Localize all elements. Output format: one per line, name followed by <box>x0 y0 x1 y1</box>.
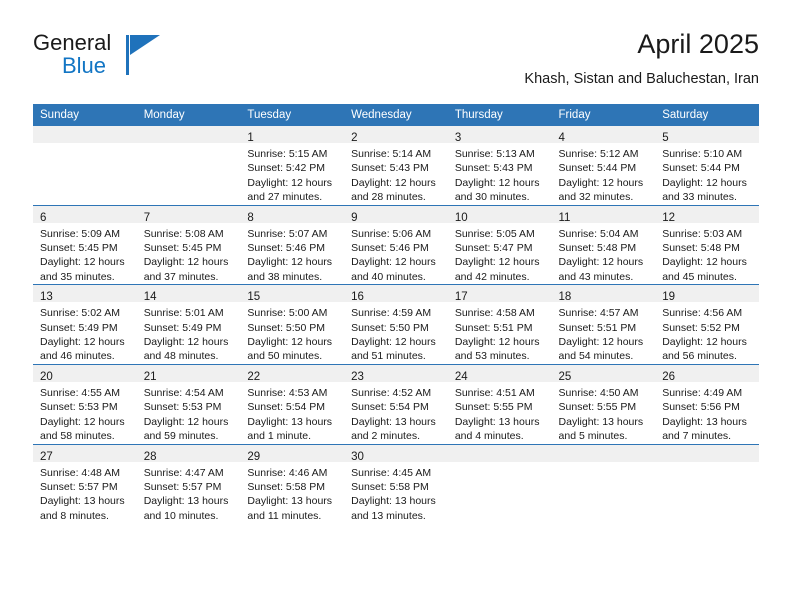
day-number: 5 <box>662 132 668 144</box>
sunrise-sunset-calendar: Sunday Monday Tuesday Wednesday Thursday… <box>33 104 759 523</box>
calendar-day-cell[interactable]: 7Sunrise: 5:08 AMSunset: 5:45 PMDaylight… <box>137 205 241 285</box>
day-number-band: 10 <box>448 206 552 223</box>
day-details: Sunrise: 4:55 AMSunset: 5:53 PMDaylight:… <box>33 382 137 444</box>
day-number-band: 22 <box>240 365 344 382</box>
daylight-text-line2: and 8 minutes. <box>40 509 131 523</box>
weekday-header-sunday: Sunday <box>33 104 137 126</box>
sunset-text: Sunset: 5:54 PM <box>247 400 338 414</box>
daylight-text-line1: Daylight: 13 hours <box>559 415 650 429</box>
daylight-text-line2: and 2 minutes. <box>351 429 442 443</box>
day-details: Sunrise: 4:51 AMSunset: 5:55 PMDaylight:… <box>448 382 552 444</box>
day-number: 7 <box>144 212 150 224</box>
calendar-week-row: 1Sunrise: 5:15 AMSunset: 5:42 PMDaylight… <box>33 126 759 205</box>
calendar-day-cell-empty <box>137 126 241 205</box>
day-number: 20 <box>40 371 53 383</box>
day-number-band: 14 <box>137 285 241 302</box>
day-number: 29 <box>247 451 260 463</box>
daylight-text-line1: Daylight: 12 hours <box>351 335 442 349</box>
calendar-week-row: 20Sunrise: 4:55 AMSunset: 5:53 PMDayligh… <box>33 364 759 444</box>
calendar-day-cell[interactable]: 17Sunrise: 4:58 AMSunset: 5:51 PMDayligh… <box>448 285 552 365</box>
sunset-text: Sunset: 5:54 PM <box>351 400 442 414</box>
day-details: Sunrise: 4:57 AMSunset: 5:51 PMDaylight:… <box>552 302 656 364</box>
sunrise-text: Sunrise: 5:12 AM <box>559 147 650 161</box>
day-number-band: 20 <box>33 365 137 382</box>
day-number-band: 27 <box>33 445 137 462</box>
day-number: 16 <box>351 291 364 303</box>
sunrise-text: Sunrise: 5:05 AM <box>455 227 546 241</box>
sunrise-text: Sunrise: 4:50 AM <box>559 386 650 400</box>
sunrise-text: Sunrise: 5:04 AM <box>559 227 650 241</box>
logo-bar-icon <box>126 35 129 75</box>
sunset-text: Sunset: 5:55 PM <box>559 400 650 414</box>
sunset-text: Sunset: 5:53 PM <box>40 400 131 414</box>
sunset-text: Sunset: 5:48 PM <box>662 241 753 255</box>
sunset-text: Sunset: 5:55 PM <box>455 400 546 414</box>
calendar-day-cell[interactable]: 6Sunrise: 5:09 AMSunset: 5:45 PMDaylight… <box>33 205 137 285</box>
day-number: 23 <box>351 371 364 383</box>
day-details: Sunrise: 5:07 AMSunset: 5:46 PMDaylight:… <box>240 223 344 285</box>
daylight-text-line2: and 32 minutes. <box>559 190 650 204</box>
daylight-text-line1: Daylight: 13 hours <box>455 415 546 429</box>
day-number-band: 28 <box>137 445 241 462</box>
daylight-text-line1: Daylight: 12 hours <box>559 335 650 349</box>
day-number-band <box>655 445 759 462</box>
day-details: Sunrise: 5:01 AMSunset: 5:49 PMDaylight:… <box>137 302 241 364</box>
weekday-header-wednesday: Wednesday <box>344 104 448 126</box>
sunrise-text: Sunrise: 5:00 AM <box>247 306 338 320</box>
day-number-band: 5 <box>655 126 759 143</box>
sunset-text: Sunset: 5:53 PM <box>144 400 235 414</box>
calendar-day-cell[interactable]: 8Sunrise: 5:07 AMSunset: 5:46 PMDaylight… <box>240 205 344 285</box>
daylight-text-line1: Daylight: 12 hours <box>40 415 131 429</box>
day-details: Sunrise: 5:15 AMSunset: 5:42 PMDaylight:… <box>240 143 344 205</box>
calendar-day-cell[interactable]: 5Sunrise: 5:10 AMSunset: 5:44 PMDaylight… <box>655 126 759 205</box>
calendar-week-row: 6Sunrise: 5:09 AMSunset: 5:45 PMDaylight… <box>33 205 759 285</box>
day-number: 11 <box>559 212 571 224</box>
day-details: Sunrise: 5:13 AMSunset: 5:43 PMDaylight:… <box>448 143 552 205</box>
daylight-text-line2: and 46 minutes. <box>40 349 131 363</box>
day-number-band <box>552 445 656 462</box>
daylight-text-line1: Daylight: 12 hours <box>559 176 650 190</box>
day-details: Sunrise: 4:59 AMSunset: 5:50 PMDaylight:… <box>344 302 448 364</box>
day-number: 15 <box>247 291 260 303</box>
day-details: Sunrise: 4:58 AMSunset: 5:51 PMDaylight:… <box>448 302 552 364</box>
day-number: 19 <box>662 291 675 303</box>
day-number: 28 <box>144 451 157 463</box>
triangle-flag-icon <box>130 35 160 55</box>
calendar-day-cell[interactable]: 27Sunrise: 4:48 AMSunset: 5:57 PMDayligh… <box>33 444 137 523</box>
sunset-text: Sunset: 5:50 PM <box>247 321 338 335</box>
sunset-text: Sunset: 5:45 PM <box>40 241 131 255</box>
calendar-day-cell[interactable]: 16Sunrise: 4:59 AMSunset: 5:50 PMDayligh… <box>344 285 448 365</box>
day-number: 13 <box>40 291 53 303</box>
calendar-day-cell[interactable]: 28Sunrise: 4:47 AMSunset: 5:57 PMDayligh… <box>137 444 241 523</box>
daylight-text-line1: Daylight: 12 hours <box>40 335 131 349</box>
day-number-band: 2 <box>344 126 448 143</box>
day-number: 14 <box>144 291 157 303</box>
sunrise-text: Sunrise: 4:52 AM <box>351 386 442 400</box>
calendar-header-row: Sunday Monday Tuesday Wednesday Thursday… <box>33 104 759 126</box>
day-number: 2 <box>351 132 357 144</box>
daylight-text-line1: Daylight: 13 hours <box>40 494 131 508</box>
day-number-band: 12 <box>655 206 759 223</box>
sunrise-text: Sunrise: 4:56 AM <box>662 306 753 320</box>
calendar-day-cell[interactable]: 26Sunrise: 4:49 AMSunset: 5:56 PMDayligh… <box>655 364 759 444</box>
calendar-day-cell[interactable]: 30Sunrise: 4:45 AMSunset: 5:58 PMDayligh… <box>344 444 448 523</box>
sunrise-text: Sunrise: 5:14 AM <box>351 147 442 161</box>
day-details: Sunrise: 5:14 AMSunset: 5:43 PMDaylight:… <box>344 143 448 205</box>
sunset-text: Sunset: 5:43 PM <box>351 161 442 175</box>
sunrise-text: Sunrise: 5:09 AM <box>40 227 131 241</box>
location-subtitle: Khash, Sistan and Baluchestan, Iran <box>524 69 759 89</box>
daylight-text-line1: Daylight: 12 hours <box>662 255 753 269</box>
day-number-band <box>448 445 552 462</box>
sunrise-text: Sunrise: 4:58 AM <box>455 306 546 320</box>
sunset-text: Sunset: 5:57 PM <box>40 480 131 494</box>
calendar-day-cell[interactable]: 24Sunrise: 4:51 AMSunset: 5:55 PMDayligh… <box>448 364 552 444</box>
sunrise-text: Sunrise: 4:49 AM <box>662 386 753 400</box>
day-number: 3 <box>455 132 461 144</box>
sunrise-text: Sunrise: 5:07 AM <box>247 227 338 241</box>
day-number-band: 29 <box>240 445 344 462</box>
calendar-day-cell[interactable]: 4Sunrise: 5:12 AMSunset: 5:44 PMDaylight… <box>552 126 656 205</box>
daylight-text-line1: Daylight: 12 hours <box>662 176 753 190</box>
sunrise-text: Sunrise: 5:02 AM <box>40 306 131 320</box>
sunset-text: Sunset: 5:51 PM <box>559 321 650 335</box>
day-number: 17 <box>455 291 468 303</box>
page-title: April 2025 <box>524 28 759 60</box>
daylight-text-line1: Daylight: 13 hours <box>247 494 338 508</box>
page-header: General Blue April 2025 Khash, Sistan an… <box>33 28 759 98</box>
sunset-text: Sunset: 5:45 PM <box>144 241 235 255</box>
day-details: Sunrise: 5:10 AMSunset: 5:44 PMDaylight:… <box>655 143 759 205</box>
day-details: Sunrise: 4:56 AMSunset: 5:52 PMDaylight:… <box>655 302 759 364</box>
sunset-text: Sunset: 5:49 PM <box>40 321 131 335</box>
day-number-band: 17 <box>448 285 552 302</box>
day-number: 21 <box>144 371 157 383</box>
calendar-day-cell[interactable]: 12Sunrise: 5:03 AMSunset: 5:48 PMDayligh… <box>655 205 759 285</box>
day-number: 8 <box>247 212 253 224</box>
day-details: Sunrise: 4:53 AMSunset: 5:54 PMDaylight:… <box>240 382 344 444</box>
calendar-day-cell[interactable]: 10Sunrise: 5:05 AMSunset: 5:47 PMDayligh… <box>448 205 552 285</box>
daylight-text-line1: Daylight: 13 hours <box>144 494 235 508</box>
sunset-text: Sunset: 5:46 PM <box>247 241 338 255</box>
day-number-band: 21 <box>137 365 241 382</box>
calendar-day-cell[interactable]: 25Sunrise: 4:50 AMSunset: 5:55 PMDayligh… <box>552 364 656 444</box>
sunrise-text: Sunrise: 4:53 AM <box>247 386 338 400</box>
day-number: 18 <box>559 291 572 303</box>
sunset-text: Sunset: 5:46 PM <box>351 241 442 255</box>
daylight-text-line2: and 48 minutes. <box>144 349 235 363</box>
day-details: Sunrise: 4:47 AMSunset: 5:57 PMDaylight:… <box>137 462 241 524</box>
daylight-text-line2: and 37 minutes. <box>144 270 235 284</box>
day-details: Sunrise: 5:00 AMSunset: 5:50 PMDaylight:… <box>240 302 344 364</box>
general-blue-logo[interactable]: General Blue <box>33 28 253 88</box>
day-number: 27 <box>40 451 53 463</box>
sunset-text: Sunset: 5:51 PM <box>455 321 546 335</box>
calendar-day-cell[interactable]: 20Sunrise: 4:55 AMSunset: 5:53 PMDayligh… <box>33 364 137 444</box>
day-number: 1 <box>247 132 253 144</box>
sunset-text: Sunset: 5:58 PM <box>247 480 338 494</box>
sunset-text: Sunset: 5:52 PM <box>662 321 753 335</box>
calendar-day-cell[interactable]: 1Sunrise: 5:15 AMSunset: 5:42 PMDaylight… <box>240 126 344 205</box>
day-details: Sunrise: 5:12 AMSunset: 5:44 PMDaylight:… <box>552 143 656 205</box>
sunset-text: Sunset: 5:48 PM <box>559 241 650 255</box>
sunset-text: Sunset: 5:44 PM <box>559 161 650 175</box>
day-number-band: 1 <box>240 126 344 143</box>
daylight-text-line1: Daylight: 12 hours <box>351 176 442 190</box>
calendar-day-cell[interactable]: 19Sunrise: 4:56 AMSunset: 5:52 PMDayligh… <box>655 285 759 365</box>
calendar-day-cell[interactable]: 2Sunrise: 5:14 AMSunset: 5:43 PMDaylight… <box>344 126 448 205</box>
daylight-text-line2: and 11 minutes. <box>247 509 338 523</box>
daylight-text-line1: Daylight: 12 hours <box>351 255 442 269</box>
daylight-text-line2: and 30 minutes. <box>455 190 546 204</box>
calendar-day-cell[interactable]: 18Sunrise: 4:57 AMSunset: 5:51 PMDayligh… <box>552 285 656 365</box>
daylight-text-line2: and 56 minutes. <box>662 349 753 363</box>
sunset-text: Sunset: 5:56 PM <box>662 400 753 414</box>
daylight-text-line1: Daylight: 12 hours <box>662 335 753 349</box>
sunrise-text: Sunrise: 4:59 AM <box>351 306 442 320</box>
day-details: Sunrise: 5:04 AMSunset: 5:48 PMDaylight:… <box>552 223 656 285</box>
daylight-text-line2: and 33 minutes. <box>662 190 753 204</box>
daylight-text-line2: and 42 minutes. <box>455 270 546 284</box>
sunset-text: Sunset: 5:57 PM <box>144 480 235 494</box>
day-details: Sunrise: 4:46 AMSunset: 5:58 PMDaylight:… <box>240 462 344 524</box>
daylight-text-line2: and 27 minutes. <box>247 190 338 204</box>
day-number: 22 <box>247 371 260 383</box>
day-details: Sunrise: 4:45 AMSunset: 5:58 PMDaylight:… <box>344 462 448 524</box>
day-number-band <box>33 126 137 143</box>
day-number-band: 9 <box>344 206 448 223</box>
calendar-day-cell-empty <box>448 444 552 523</box>
daylight-text-line2: and 54 minutes. <box>559 349 650 363</box>
sunrise-text: Sunrise: 4:48 AM <box>40 466 131 480</box>
calendar-day-cell[interactable]: 21Sunrise: 4:54 AMSunset: 5:53 PMDayligh… <box>137 364 241 444</box>
day-details: Sunrise: 5:06 AMSunset: 5:46 PMDaylight:… <box>344 223 448 285</box>
sunset-text: Sunset: 5:43 PM <box>455 161 546 175</box>
day-details: Sunrise: 5:05 AMSunset: 5:47 PMDaylight:… <box>448 223 552 285</box>
sunrise-text: Sunrise: 4:57 AM <box>559 306 650 320</box>
day-number-band: 4 <box>552 126 656 143</box>
day-number-band: 24 <box>448 365 552 382</box>
daylight-text-line1: Daylight: 12 hours <box>144 335 235 349</box>
daylight-text-line2: and 4 minutes. <box>455 429 546 443</box>
daylight-text-line2: and 38 minutes. <box>247 270 338 284</box>
calendar-page: General Blue April 2025 Khash, Sistan an… <box>0 0 792 612</box>
daylight-text-line1: Daylight: 12 hours <box>40 255 131 269</box>
sunset-text: Sunset: 5:42 PM <box>247 161 338 175</box>
sunrise-text: Sunrise: 4:47 AM <box>144 466 235 480</box>
daylight-text-line1: Daylight: 12 hours <box>247 176 338 190</box>
calendar-day-cell[interactable]: 9Sunrise: 5:06 AMSunset: 5:46 PMDaylight… <box>344 205 448 285</box>
calendar-body: 1Sunrise: 5:15 AMSunset: 5:42 PMDaylight… <box>33 126 759 523</box>
day-number: 25 <box>559 371 572 383</box>
day-number-band <box>137 126 241 143</box>
daylight-text-line2: and 40 minutes. <box>351 270 442 284</box>
daylight-text-line1: Daylight: 12 hours <box>455 176 546 190</box>
day-number: 10 <box>455 212 468 224</box>
weekday-header-saturday: Saturday <box>655 104 759 126</box>
day-number-band: 3 <box>448 126 552 143</box>
day-number: 30 <box>351 451 364 463</box>
daylight-text-line1: Daylight: 13 hours <box>351 494 442 508</box>
daylight-text-line2: and 5 minutes. <box>559 429 650 443</box>
calendar-day-cell-empty <box>552 444 656 523</box>
calendar-day-cell[interactable]: 29Sunrise: 4:46 AMSunset: 5:58 PMDayligh… <box>240 444 344 523</box>
weekday-header-thursday: Thursday <box>448 104 552 126</box>
day-details: Sunrise: 4:54 AMSunset: 5:53 PMDaylight:… <box>137 382 241 444</box>
calendar-day-cell[interactable]: 14Sunrise: 5:01 AMSunset: 5:49 PMDayligh… <box>137 285 241 365</box>
calendar-day-cell[interactable]: 13Sunrise: 5:02 AMSunset: 5:49 PMDayligh… <box>33 285 137 365</box>
daylight-text-line1: Daylight: 12 hours <box>144 415 235 429</box>
day-number: 4 <box>559 132 565 144</box>
day-number-band: 25 <box>552 365 656 382</box>
day-details: Sunrise: 5:02 AMSunset: 5:49 PMDaylight:… <box>33 302 137 364</box>
daylight-text-line2: and 53 minutes. <box>455 349 546 363</box>
sunrise-text: Sunrise: 5:08 AM <box>144 227 235 241</box>
day-details: Sunrise: 4:49 AMSunset: 5:56 PMDaylight:… <box>655 382 759 444</box>
day-number-band: 11 <box>552 206 656 223</box>
daylight-text-line1: Daylight: 12 hours <box>455 335 546 349</box>
sunrise-text: Sunrise: 5:15 AM <box>247 147 338 161</box>
daylight-text-line1: Daylight: 12 hours <box>144 255 235 269</box>
daylight-text-line2: and 7 minutes. <box>662 429 753 443</box>
sunset-text: Sunset: 5:44 PM <box>662 161 753 175</box>
day-number: 26 <box>662 371 675 383</box>
daylight-text-line2: and 58 minutes. <box>40 429 131 443</box>
daylight-text-line1: Daylight: 12 hours <box>247 255 338 269</box>
day-number-band: 23 <box>344 365 448 382</box>
day-number-band: 19 <box>655 285 759 302</box>
day-details: Sunrise: 5:03 AMSunset: 5:48 PMDaylight:… <box>655 223 759 285</box>
daylight-text-line2: and 13 minutes. <box>351 509 442 523</box>
day-number: 6 <box>40 212 46 224</box>
calendar-week-row: 27Sunrise: 4:48 AMSunset: 5:57 PMDayligh… <box>33 444 759 523</box>
sunset-text: Sunset: 5:58 PM <box>351 480 442 494</box>
day-details: Sunrise: 5:09 AMSunset: 5:45 PMDaylight:… <box>33 223 137 285</box>
day-details: Sunrise: 4:50 AMSunset: 5:55 PMDaylight:… <box>552 382 656 444</box>
day-number: 9 <box>351 212 357 224</box>
day-number-band: 18 <box>552 285 656 302</box>
sunrise-text: Sunrise: 4:55 AM <box>40 386 131 400</box>
daylight-text-line2: and 28 minutes. <box>351 190 442 204</box>
sunrise-text: Sunrise: 5:03 AM <box>662 227 753 241</box>
sunset-text: Sunset: 5:47 PM <box>455 241 546 255</box>
calendar-day-cell[interactable]: 15Sunrise: 5:00 AMSunset: 5:50 PMDayligh… <box>240 285 344 365</box>
day-number: 24 <box>455 371 468 383</box>
day-number-band: 8 <box>240 206 344 223</box>
sunrise-text: Sunrise: 5:06 AM <box>351 227 442 241</box>
daylight-text-line1: Daylight: 12 hours <box>455 255 546 269</box>
weekday-header-friday: Friday <box>552 104 656 126</box>
calendar-day-cell-empty <box>655 444 759 523</box>
calendar-day-cell[interactable]: 11Sunrise: 5:04 AMSunset: 5:48 PMDayligh… <box>552 205 656 285</box>
sunset-text: Sunset: 5:50 PM <box>351 321 442 335</box>
calendar-day-cell-empty <box>33 126 137 205</box>
daylight-text-line1: Daylight: 13 hours <box>662 415 753 429</box>
day-number-band: 30 <box>344 445 448 462</box>
day-number-band: 16 <box>344 285 448 302</box>
daylight-text-line1: Daylight: 13 hours <box>351 415 442 429</box>
day-number-band: 13 <box>33 285 137 302</box>
day-number-band: 15 <box>240 285 344 302</box>
daylight-text-line2: and 1 minute. <box>247 429 338 443</box>
day-number-band: 7 <box>137 206 241 223</box>
sunset-text: Sunset: 5:49 PM <box>144 321 235 335</box>
daylight-text-line2: and 50 minutes. <box>247 349 338 363</box>
weekday-header-monday: Monday <box>137 104 241 126</box>
title-block: April 2025 Khash, Sistan and Baluchestan… <box>524 28 759 89</box>
sunrise-text: Sunrise: 5:13 AM <box>455 147 546 161</box>
day-number-band: 26 <box>655 365 759 382</box>
daylight-text-line2: and 45 minutes. <box>662 270 753 284</box>
daylight-text-line1: Daylight: 12 hours <box>247 335 338 349</box>
weekday-header-tuesday: Tuesday <box>240 104 344 126</box>
sunrise-text: Sunrise: 5:01 AM <box>144 306 235 320</box>
brand-name-blue: Blue <box>62 53 106 79</box>
daylight-text-line1: Daylight: 12 hours <box>559 255 650 269</box>
daylight-text-line2: and 35 minutes. <box>40 270 131 284</box>
calendar-day-cell[interactable]: 3Sunrise: 5:13 AMSunset: 5:43 PMDaylight… <box>448 126 552 205</box>
daylight-text-line2: and 43 minutes. <box>559 270 650 284</box>
sunrise-text: Sunrise: 4:45 AM <box>351 466 442 480</box>
calendar-day-cell[interactable]: 23Sunrise: 4:52 AMSunset: 5:54 PMDayligh… <box>344 364 448 444</box>
daylight-text-line2: and 59 minutes. <box>144 429 235 443</box>
sunrise-text: Sunrise: 4:46 AM <box>247 466 338 480</box>
sunrise-text: Sunrise: 5:10 AM <box>662 147 753 161</box>
sunrise-text: Sunrise: 4:54 AM <box>144 386 235 400</box>
day-details: Sunrise: 4:48 AMSunset: 5:57 PMDaylight:… <box>33 462 137 524</box>
sunrise-text: Sunrise: 4:51 AM <box>455 386 546 400</box>
calendar-week-row: 13Sunrise: 5:02 AMSunset: 5:49 PMDayligh… <box>33 285 759 365</box>
daylight-text-line2: and 51 minutes. <box>351 349 442 363</box>
daylight-text-line2: and 10 minutes. <box>144 509 235 523</box>
day-number-band: 6 <box>33 206 137 223</box>
day-details: Sunrise: 4:52 AMSunset: 5:54 PMDaylight:… <box>344 382 448 444</box>
daylight-text-line1: Daylight: 13 hours <box>247 415 338 429</box>
day-number: 12 <box>662 212 675 224</box>
day-details: Sunrise: 5:08 AMSunset: 5:45 PMDaylight:… <box>137 223 241 285</box>
calendar-day-cell[interactable]: 22Sunrise: 4:53 AMSunset: 5:54 PMDayligh… <box>240 364 344 444</box>
